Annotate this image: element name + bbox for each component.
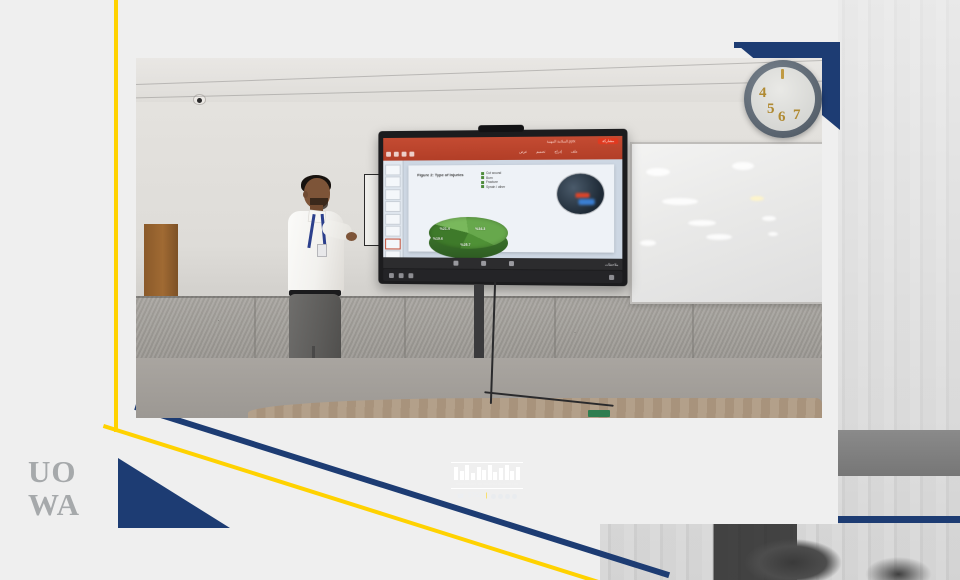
slide-thumbnail[interactable] bbox=[385, 164, 401, 175]
legend-label: Burn bbox=[486, 176, 493, 180]
power-icon[interactable] bbox=[389, 273, 394, 278]
social-icons[interactable] bbox=[491, 494, 517, 499]
clock-tick bbox=[781, 69, 784, 79]
legend-swatch bbox=[481, 176, 484, 179]
slide-thumbnail[interactable] bbox=[385, 213, 401, 224]
pie-slice-label: %34.3 bbox=[475, 227, 485, 231]
university-footer-logo: UNIVERSITY OF WARITH AL-ANBIYAA ☎ 5751 | bbox=[447, 462, 527, 500]
id-badge bbox=[317, 244, 327, 257]
youtube-icon[interactable] bbox=[512, 494, 517, 499]
chart-legend: Cut wound Burn Fracture Sprain / other bbox=[481, 171, 505, 189]
presentation-title: السلامة المهنية.pptx bbox=[547, 139, 576, 143]
news-card-canvas: السلامة المهنية.pptx مشاركة ملف إدراج تص… bbox=[0, 0, 960, 580]
security-camera-icon bbox=[194, 95, 205, 104]
current-slide[interactable]: Figure 2: Type of Injuries Cut wound Bur… bbox=[408, 164, 614, 252]
ceiling-tiles bbox=[136, 58, 822, 102]
instagram-icon[interactable] bbox=[498, 494, 503, 499]
slide-thumbnail[interactable] bbox=[385, 189, 401, 200]
uowa-logo-line1: UO bbox=[28, 455, 106, 488]
footer-contact-row: ☎ 5751 | bbox=[447, 493, 527, 500]
interactive-flat-panel-display[interactable]: السلامة المهنية.pptx مشاركة ملف إدراج تص… bbox=[378, 129, 627, 286]
cable-junction-box bbox=[588, 410, 610, 417]
present-icon[interactable] bbox=[409, 152, 414, 157]
slide-sorter-icon[interactable] bbox=[481, 261, 486, 266]
clock-numeral: 4 bbox=[759, 85, 767, 102]
facebook-icon[interactable] bbox=[491, 494, 496, 499]
whiteboard bbox=[630, 142, 822, 304]
tab-insert[interactable]: إدراج bbox=[554, 150, 561, 154]
clock-face: 4 5 6 7 bbox=[751, 67, 815, 131]
legend-swatch bbox=[481, 181, 484, 184]
presenter-ear bbox=[303, 191, 308, 198]
undo-icon[interactable] bbox=[394, 152, 399, 157]
slide-thumbnail[interactable] bbox=[385, 226, 401, 237]
legend-label: Sprain / other bbox=[486, 185, 505, 189]
kufic-script-glyphs bbox=[454, 465, 520, 480]
pie-slice-label: %21.4 bbox=[440, 227, 450, 231]
powerpoint-ribbon: السلامة المهنية.pptx مشاركة ملف إدراج تص… bbox=[383, 136, 622, 161]
normal-view-icon[interactable] bbox=[453, 261, 458, 266]
tab-file[interactable]: ملف bbox=[571, 149, 578, 153]
uowa-logo-line2: WA bbox=[28, 488, 106, 521]
slide-thumbnail-selected[interactable] bbox=[385, 238, 401, 249]
pie-slice-label: %19.6 bbox=[433, 237, 443, 241]
phone-number: 5751 bbox=[468, 493, 481, 499]
legend-label: Fracture bbox=[486, 180, 498, 184]
inset-highlight bbox=[576, 193, 590, 198]
powerpoint-status-bar[interactable]: ملاحظات bbox=[383, 257, 622, 270]
tab-design[interactable]: تصميم bbox=[536, 150, 545, 154]
bottom-left-navy-triangle bbox=[118, 458, 230, 528]
slide-inset-photo bbox=[557, 174, 604, 215]
wall-clock: 4 5 6 7 bbox=[744, 60, 822, 138]
stage-platform-top bbox=[248, 398, 822, 418]
redo-icon[interactable] bbox=[402, 152, 407, 157]
presentation-photo: السلامة المهنية.pptx مشاركة ملف إدراج تص… bbox=[136, 58, 822, 418]
status-notes-label[interactable]: ملاحظات bbox=[605, 262, 618, 266]
tab-view[interactable]: عرض bbox=[519, 150, 527, 154]
share-button[interactable]: مشاركة bbox=[598, 138, 618, 144]
top-right-navy-bar bbox=[734, 42, 838, 48]
slide-thumbnail-panel[interactable] bbox=[383, 161, 403, 260]
menu-icon[interactable] bbox=[609, 275, 614, 280]
save-icon[interactable] bbox=[386, 152, 391, 157]
display-screen[interactable]: السلامة المهنية.pptx مشاركة ملف إدراج تص… bbox=[383, 136, 622, 270]
legend-swatch bbox=[481, 185, 484, 188]
clock-numeral: 7 bbox=[793, 107, 801, 124]
slide-thumbnail[interactable] bbox=[385, 176, 401, 187]
clock-numeral: 6 bbox=[778, 109, 786, 126]
pie-chart: %34.3 %25.7 %21.4 %19.6 bbox=[424, 207, 515, 265]
presenter-hand bbox=[346, 232, 357, 241]
powerpoint-workspace: Figure 2: Type of Injuries Cut wound Bur… bbox=[383, 159, 622, 258]
reading-view-icon[interactable] bbox=[509, 261, 514, 266]
home-icon[interactable] bbox=[399, 273, 404, 278]
slide-thumbnail[interactable] bbox=[385, 201, 401, 212]
legend-swatch bbox=[481, 172, 484, 175]
clock-numeral: 5 bbox=[767, 101, 775, 118]
back-icon[interactable] bbox=[408, 273, 413, 278]
inset-highlight bbox=[579, 199, 595, 205]
chart-title: Figure 2: Type of Injuries bbox=[417, 172, 463, 177]
quick-access-toolbar[interactable] bbox=[386, 152, 414, 157]
telegram-icon[interactable] bbox=[505, 494, 510, 499]
pie-slice-label: %25.7 bbox=[460, 243, 470, 247]
kufic-logo-box: UNIVERSITY OF WARITH AL-ANBIYAA bbox=[451, 462, 523, 489]
legend-label: Cut wound bbox=[486, 171, 501, 175]
display-control-bar[interactable] bbox=[383, 269, 622, 283]
ribbon-tabs[interactable]: ملف إدراج تصميم عرض bbox=[519, 149, 577, 153]
phone-icon: ☎ bbox=[457, 493, 464, 500]
uowa-logo: UO WA bbox=[28, 455, 106, 533]
university-name-latin: UNIVERSITY OF WARITH AL-ANBIYAA bbox=[454, 482, 520, 486]
display-webcam-icon bbox=[478, 125, 524, 132]
yellow-vertical-rule bbox=[114, 0, 118, 432]
divider: | bbox=[486, 493, 488, 499]
